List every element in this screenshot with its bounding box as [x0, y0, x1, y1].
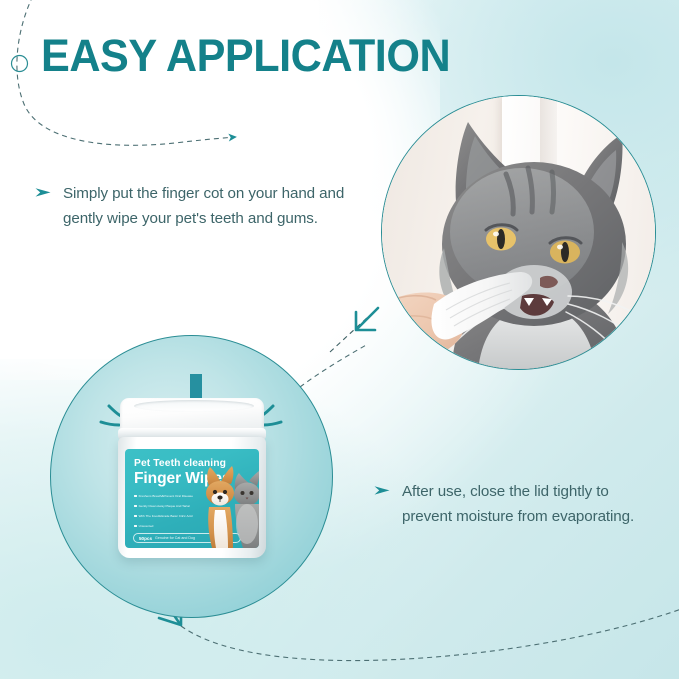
step-1-text: Simply put the finger cot on your hand a… [63, 181, 353, 231]
step-item-1: Simply put the finger cot on your hand a… [35, 181, 353, 231]
ring-marker [12, 56, 28, 72]
cat-photo-scene [382, 96, 655, 369]
page-title: EASY APPLICATION [41, 33, 450, 78]
product-quantity: 50pcs [139, 536, 152, 541]
photo-cat-circle [381, 95, 656, 370]
poster-canvas: EASY APPLICATION Simply put the finger c… [0, 0, 679, 679]
product-footer-note: Genuine for Cat and Dog [155, 536, 195, 540]
product-jar: Pet Teeth cleaning Finger Wipes Freshens… [118, 398, 266, 558]
step-2-text: After use, close the lid tightly to prev… [402, 479, 644, 529]
step-item-2: After use, close the lid tightly to prev… [374, 479, 644, 529]
jar-label: Pet Teeth cleaning Finger Wipes Freshens… [125, 449, 259, 548]
arrow-marker-icon [35, 187, 52, 198]
photo-jar-circle: Pet Teeth cleaning Finger Wipes Freshens… [50, 335, 333, 618]
jar-body: Pet Teeth cleaning Finger Wipes Freshens… [118, 437, 266, 558]
arrow-marker-icon [374, 485, 391, 496]
arrow-to-jar-shaft [358, 308, 378, 328]
pets-illustration [199, 464, 259, 548]
cat-illustration [382, 96, 656, 370]
